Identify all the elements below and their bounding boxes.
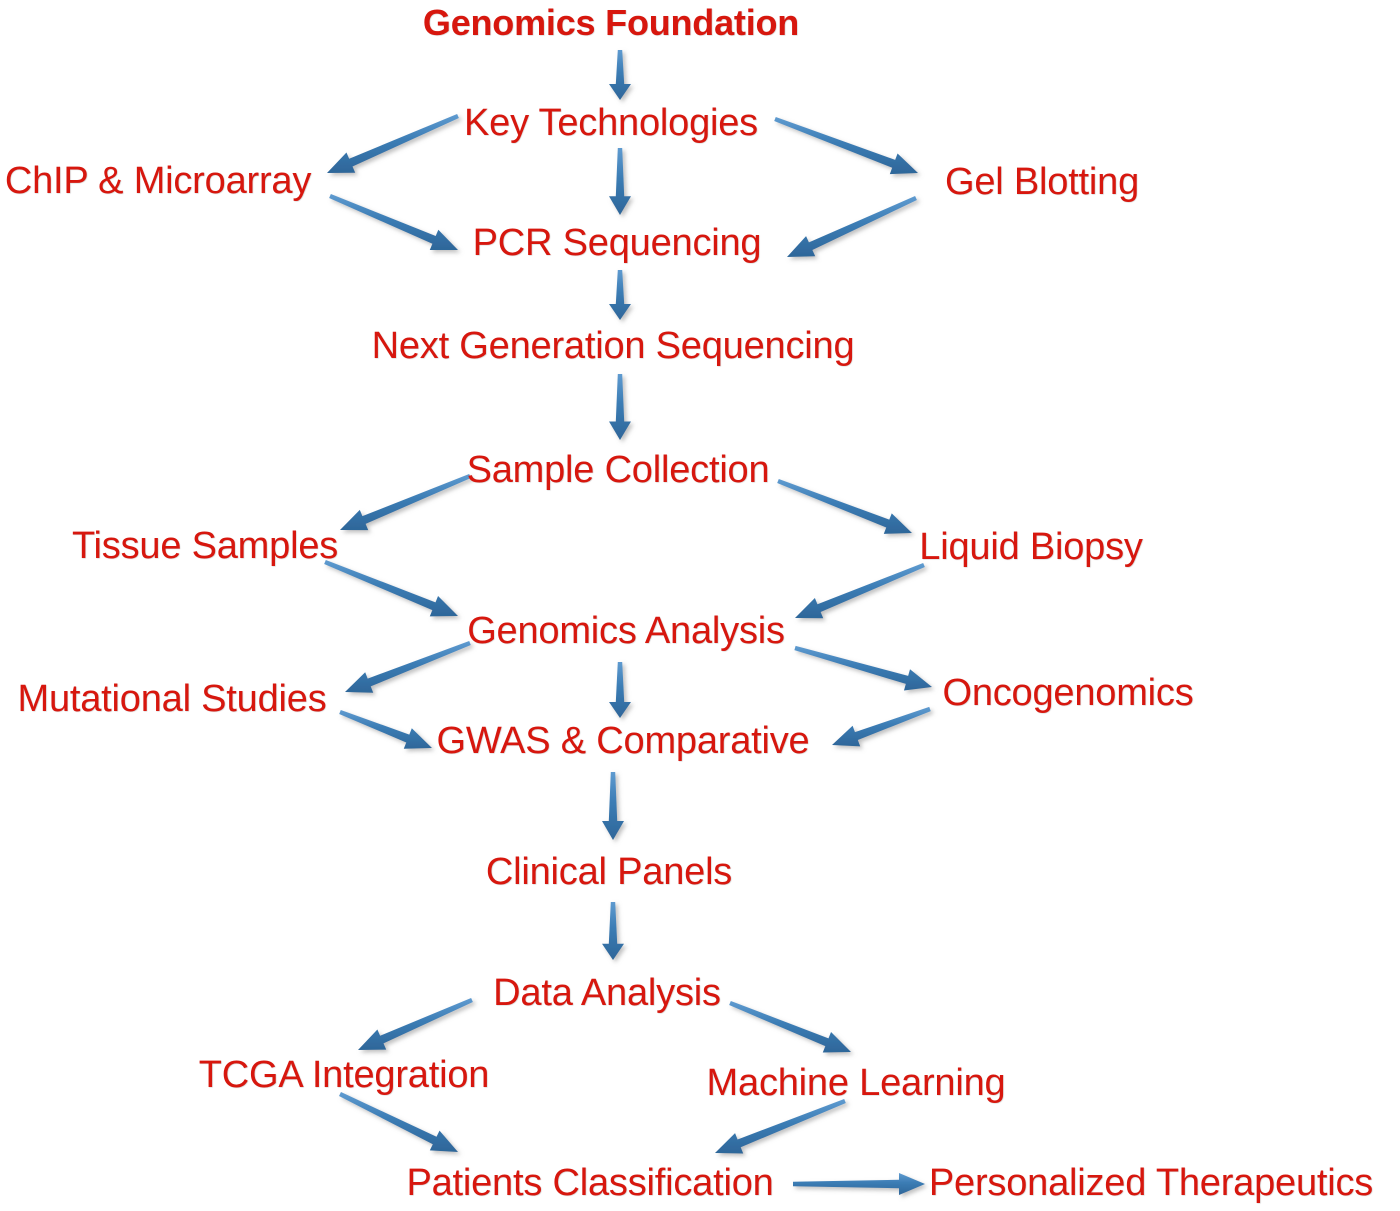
node-machine-learning: Machine Learning xyxy=(707,1064,1006,1102)
node-chip-microarray: ChIP & Microarray xyxy=(5,162,311,200)
arrow-e-data-ml xyxy=(729,1001,851,1052)
arrow-e-sample-tissue xyxy=(340,474,471,530)
node-personalized-therapeutics: Personalized Therapeutics xyxy=(929,1164,1373,1202)
arrow-e-mutational-gwas xyxy=(339,710,432,749)
arrow-e-keytech-pcr xyxy=(609,148,631,215)
arrow-e-ngs-sample xyxy=(609,374,631,440)
arrow-e-data-tcga xyxy=(358,998,473,1050)
node-tcga-integration: TCGA Integration xyxy=(199,1056,489,1094)
node-genomics-foundation: Genomics Foundation xyxy=(423,5,799,41)
arrow-e-keytech-gel xyxy=(774,117,918,174)
arrow-e-sample-liquid xyxy=(777,479,912,534)
node-liquid-biopsy: Liquid Biopsy xyxy=(919,528,1142,566)
arrow-e-gel-pcr xyxy=(787,196,917,257)
arrow-e-clinical-data xyxy=(602,902,624,960)
node-patients-classification: Patients Classification xyxy=(406,1164,773,1202)
node-tissue-samples: Tissue Samples xyxy=(72,527,338,565)
node-oncogenomics: Oncogenomics xyxy=(942,674,1193,712)
arrow-e-keytech-chip xyxy=(327,114,459,173)
node-mutational-studies: Mutational Studies xyxy=(17,680,326,718)
arrow-e-foundation-keytech xyxy=(609,50,631,100)
node-gwas-comparative: GWAS & Comparative xyxy=(437,722,810,760)
node-data-analysis: Data Analysis xyxy=(493,974,721,1012)
node-key-technologies: Key Technologies xyxy=(464,104,758,142)
arrow-e-genomics-gwas xyxy=(609,662,631,718)
arrow-e-onco-gwas xyxy=(832,707,931,746)
arrow-e-genomics-mutational xyxy=(345,641,471,693)
arrow-e-gwas-clinical xyxy=(602,772,624,840)
node-gel-blotting: Gel Blotting xyxy=(945,163,1139,201)
arrow-e-liquid-genomics xyxy=(795,563,925,618)
node-next-generation-sequencing: Next Generation Sequencing xyxy=(372,327,855,365)
arrow-e-tissue-genomics xyxy=(324,560,458,616)
node-clinical-panels: Clinical Panels xyxy=(486,853,732,891)
node-genomics-analysis: Genomics Analysis xyxy=(467,612,785,650)
arrow-e-chip-pcr xyxy=(329,194,458,250)
arrow-e-tcga-patients xyxy=(339,1092,458,1152)
flowchart-canvas: Genomics FoundationKey TechnologiesChIP … xyxy=(0,0,1400,1211)
node-pcr-sequencing: PCR Sequencing xyxy=(473,224,762,262)
arrow-e-pcr-ngs xyxy=(609,270,631,320)
node-sample-collection: Sample Collection xyxy=(467,451,770,489)
arrow-e-genomics-onco xyxy=(794,646,932,691)
arrow-e-ml-patients xyxy=(715,1099,846,1154)
arrow-e-patients-personalized xyxy=(793,1173,925,1195)
